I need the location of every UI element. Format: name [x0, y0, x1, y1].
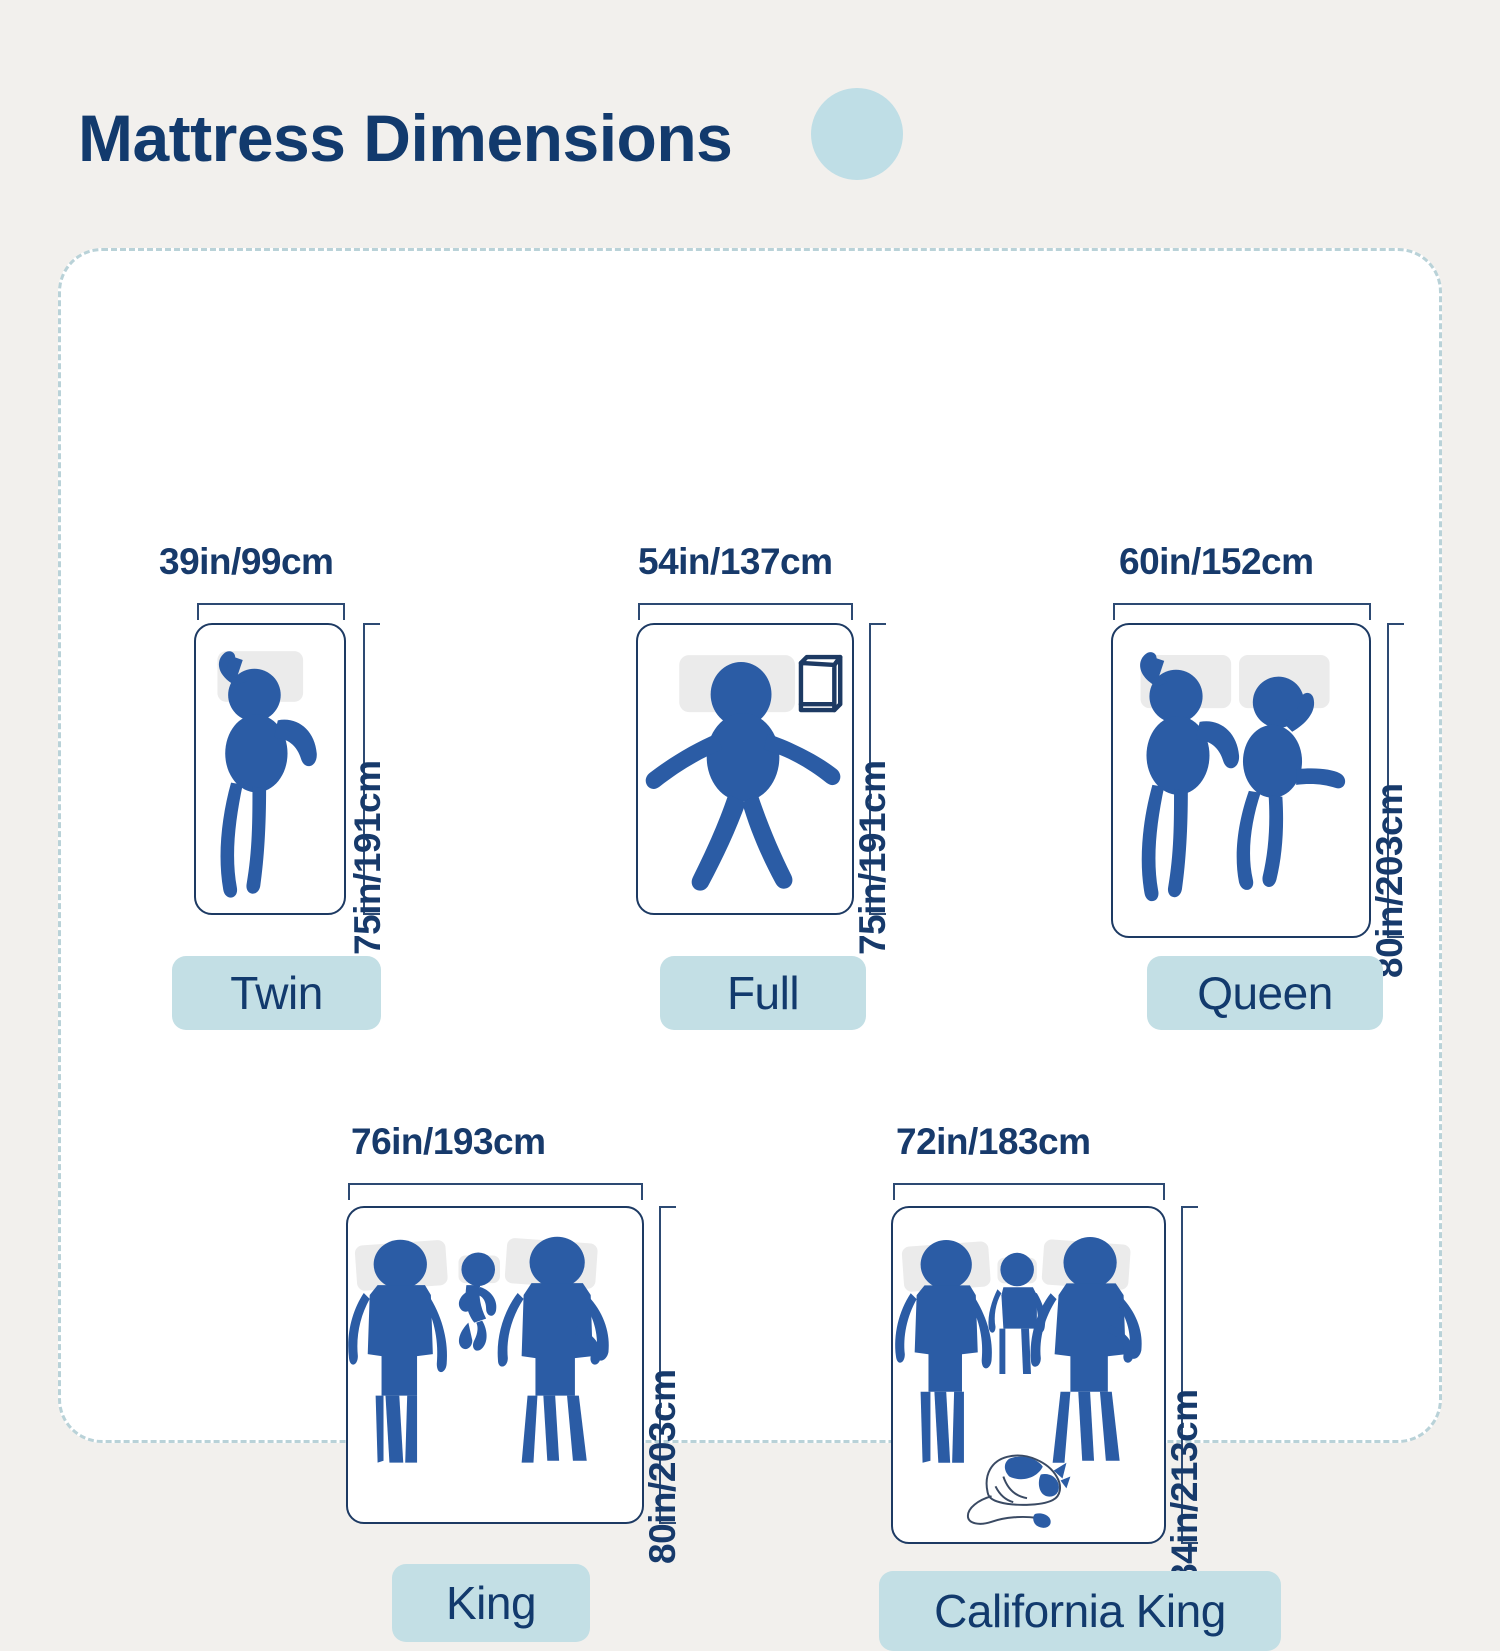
king-length-label: 80in/203cm [642, 1369, 684, 1564]
full-width-dimension-line [638, 603, 853, 620]
full-width-label: 54in/137cm [638, 541, 833, 583]
queen-length-label: 80in/203cm [1369, 783, 1411, 978]
king-width-dimension-line [348, 1183, 643, 1200]
calking-width-label: 72in/183cm [896, 1121, 1091, 1163]
person-sleeping-icon [1237, 677, 1345, 890]
diagram-panel: 39in/99cm 75in/191cm Twin 54in/137cm [58, 248, 1442, 1443]
queen-mattress [1111, 623, 1371, 938]
calking-length-label: 84in/213cm [1164, 1389, 1206, 1584]
queen-width-dimension-line [1113, 603, 1371, 620]
person-spread-icon [646, 662, 841, 891]
twin-mattress [194, 623, 346, 915]
size-badge-king[interactable]: King [392, 1564, 590, 1642]
title-accent-circle [811, 88, 903, 180]
twin-length-label: 75in/191cm [347, 760, 389, 955]
king-mattress [346, 1206, 644, 1524]
full-mattress [636, 623, 854, 915]
twin-width-dimension-line [197, 603, 345, 620]
size-badge-california-king[interactable]: California King [879, 1571, 1281, 1651]
size-badge-twin[interactable]: Twin [172, 956, 381, 1030]
california-king-mattress [891, 1206, 1166, 1544]
page-header: Mattress Dimensions [78, 92, 732, 184]
full-length-label: 75in/191cm [852, 760, 894, 955]
book-icon [801, 657, 840, 710]
size-badge-full[interactable]: Full [660, 956, 866, 1030]
calking-width-dimension-line [893, 1183, 1165, 1200]
page-title: Mattress Dimensions [78, 92, 732, 184]
queen-width-label: 60in/152cm [1119, 541, 1314, 583]
cat-icon [968, 1456, 1070, 1528]
twin-width-label: 39in/99cm [159, 541, 333, 583]
baby-icon [459, 1253, 496, 1351]
king-width-label: 76in/193cm [351, 1121, 546, 1163]
size-badge-queen[interactable]: Queen [1147, 956, 1383, 1030]
